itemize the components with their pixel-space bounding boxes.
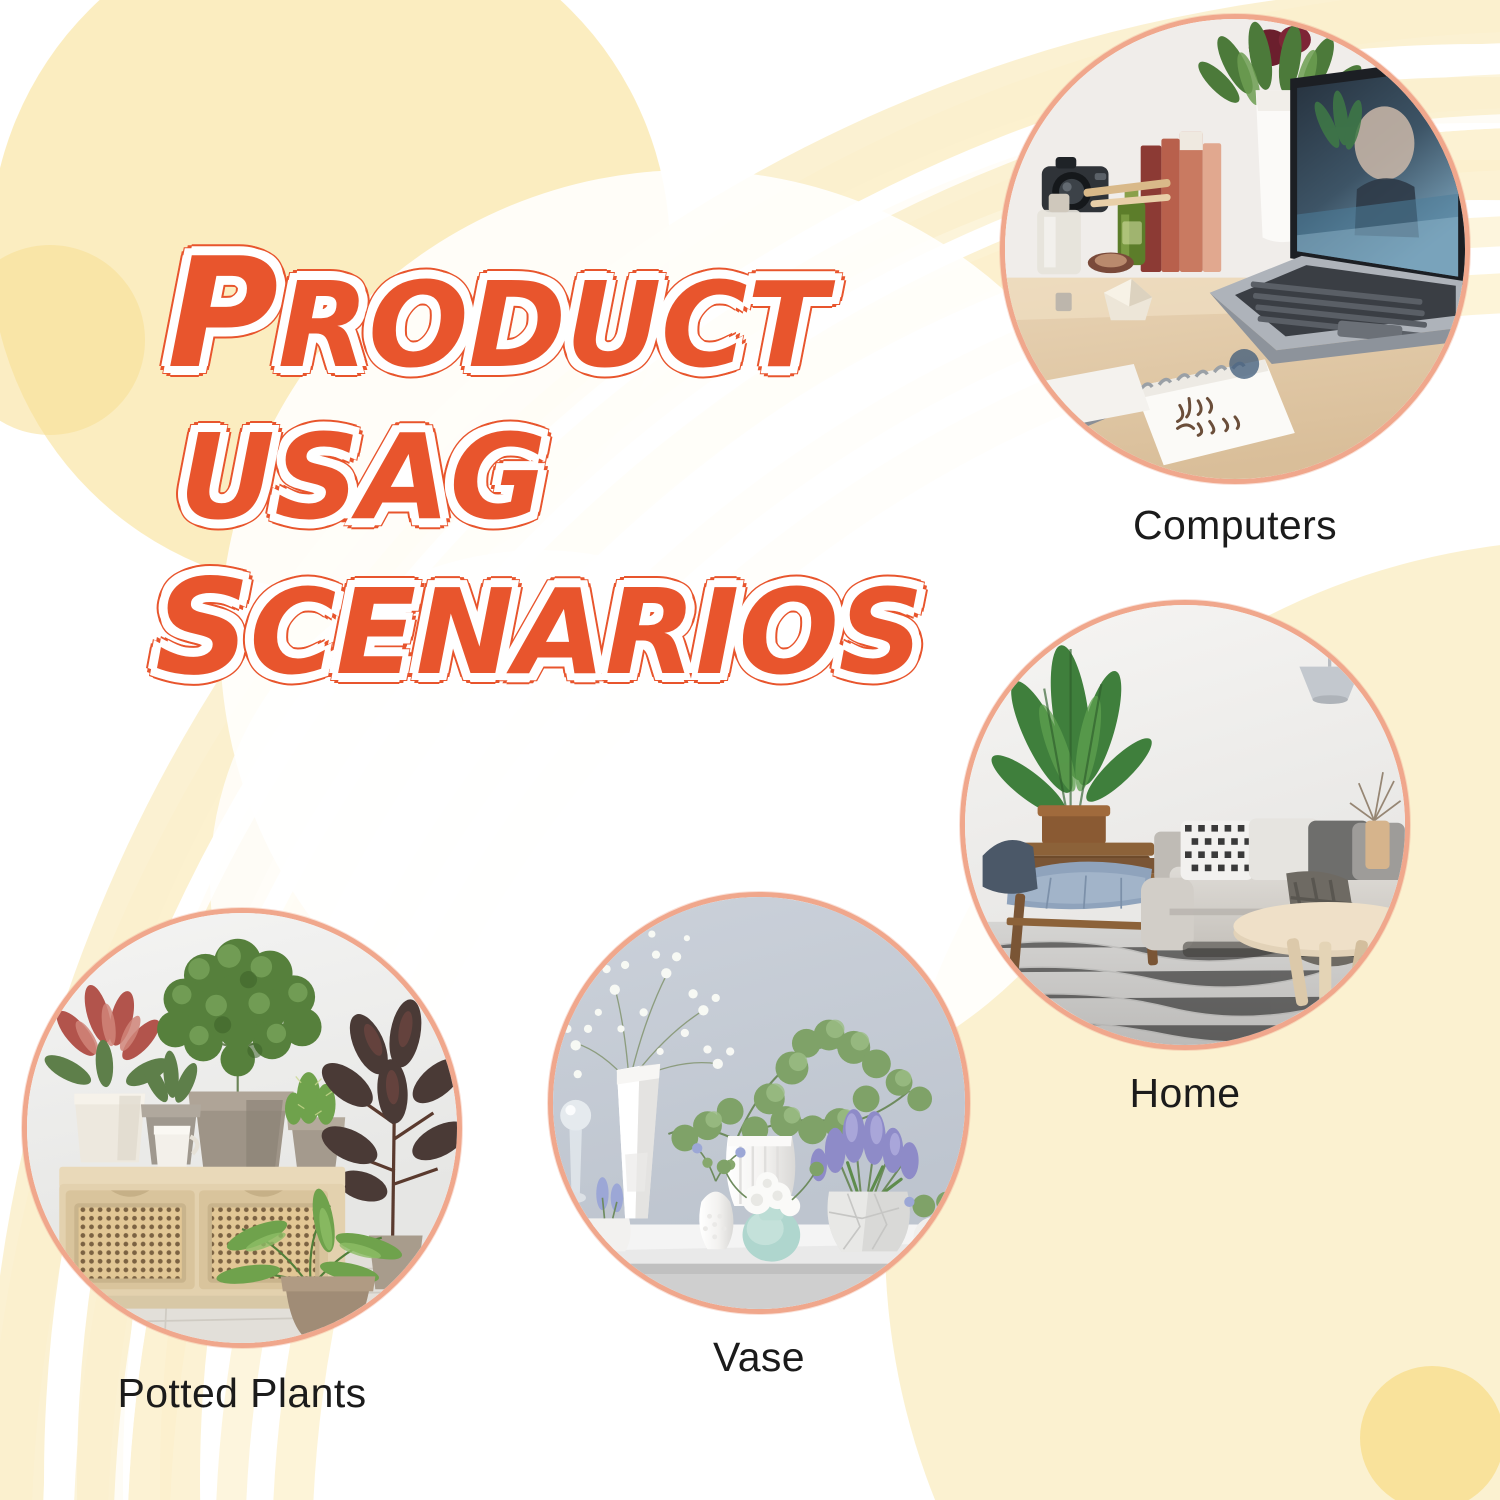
title-rest-usag: USAG bbox=[179, 408, 546, 546]
scenario-photo-computers bbox=[1000, 14, 1470, 484]
scenario-photo-potted-plants bbox=[22, 908, 462, 1348]
potted-plant-icon bbox=[27, 913, 457, 1343]
scenario-label-home: Home bbox=[960, 1070, 1410, 1117]
scenario-label-computers: Computers bbox=[1000, 502, 1470, 549]
page-title: PRODUCT USAG SCENARIOS bbox=[155, 238, 945, 694]
title-line-usag: USAG bbox=[179, 418, 945, 536]
scenario-card-vase[interactable]: Vase bbox=[548, 892, 970, 1381]
scenario-photo-home bbox=[960, 600, 1410, 1050]
scenario-card-home[interactable]: Home bbox=[960, 600, 1410, 1117]
scenario-card-computers[interactable]: Computers bbox=[1000, 14, 1470, 549]
pillow-houndstooth bbox=[1181, 821, 1254, 880]
scenario-photo-vase bbox=[548, 892, 970, 1314]
faceted-grey-vase bbox=[827, 1192, 909, 1252]
scenario-label-potted-plants: Potted Plants bbox=[22, 1370, 462, 1417]
title-line-product: PRODUCT bbox=[167, 238, 945, 390]
scenario-label-vase: Vase bbox=[548, 1334, 970, 1381]
title-rest-scenarios: CENARIOS bbox=[250, 563, 923, 701]
scenario-card-potted-plants[interactable]: Potted Plants bbox=[22, 908, 462, 1417]
title-line-scenarios: SCENARIOS bbox=[155, 562, 945, 694]
title-dropcap-s: S bbox=[155, 551, 250, 705]
title-dropcap-p: P bbox=[167, 225, 278, 402]
product-usage-scenarios-poster: PRODUCT USAG SCENARIOS bbox=[0, 0, 1500, 1500]
vase-icon bbox=[553, 897, 965, 1309]
title-rest-product: RODUCT bbox=[278, 256, 827, 394]
sofa-icon bbox=[965, 605, 1405, 1045]
laptop-icon bbox=[1005, 19, 1465, 479]
